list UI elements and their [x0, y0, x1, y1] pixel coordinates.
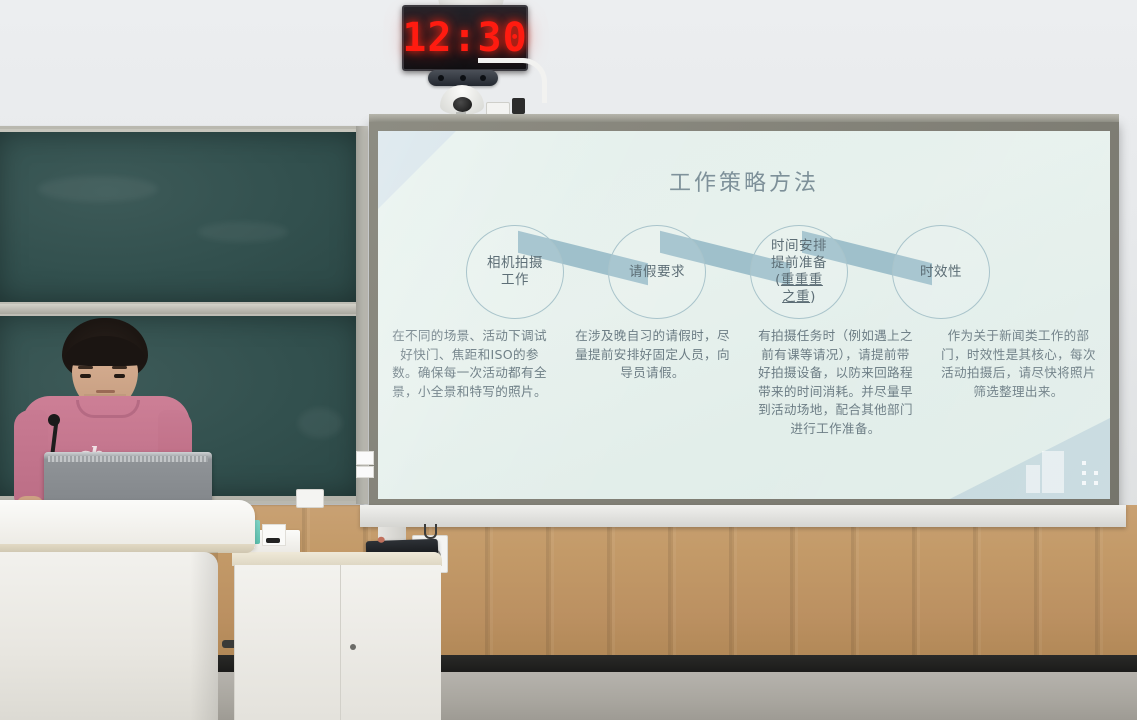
chalkboard-panel-upper	[0, 132, 360, 302]
window-dot	[1082, 471, 1086, 475]
process-node-3[interactable]: 时间安排提前准备(重重重之重)	[750, 225, 848, 319]
screen-bottom-shelf	[360, 505, 1126, 527]
slide-title: 工作策略方法	[378, 165, 1110, 197]
equipment-label	[356, 466, 374, 478]
arm-left	[14, 410, 48, 510]
cabinet-body	[234, 565, 441, 720]
marker-pen	[266, 538, 280, 543]
slide-corner-accent-bottomright	[930, 409, 1110, 499]
lectern-body	[0, 552, 218, 720]
classroom-scene: 12:30 工作策略方法 相机拍摄工作 请假要求	[0, 0, 1137, 720]
projection-screen-frame: 工作策略方法 相机拍摄工作 请假要求 时间安排提前准备(重重重之重) 时效性	[369, 122, 1119, 508]
cabinet-top	[232, 552, 442, 566]
lectern	[0, 500, 255, 720]
building-shape	[1042, 451, 1064, 493]
process-node-4[interactable]: 时效性	[892, 225, 990, 319]
chalk-smudge	[198, 222, 288, 242]
process-node-4-label: 时效性	[920, 264, 962, 281]
side-cabinet[interactable]	[232, 552, 442, 720]
cable-conduit	[478, 58, 547, 103]
window-dot	[1094, 471, 1098, 475]
process-node-1-label: 相机拍摄工作	[487, 255, 543, 289]
wall-socket	[296, 489, 324, 508]
slide-column-2-text: 在涉及晚自习的请假时，尽量提前安排好固定人员，向导员请假。	[575, 327, 730, 383]
shirt-collar	[76, 400, 140, 418]
slide-column-4-text: 作为关于新闻类工作的部门，时效性是其核心，每次活动拍摄后，请尽快将照片筛选整理出…	[941, 327, 1096, 401]
cable-hook	[424, 524, 437, 539]
slide-column-1-text: 在不同的场景、活动下调试好快门、焦距和ISO的参数。确保每一次活动都有全景，小全…	[392, 327, 547, 401]
eyebrow-right	[112, 366, 127, 369]
slide-column-2: 在涉及晚自习的请假时，尽量提前安排好固定人员，向导员请假。	[561, 327, 744, 439]
process-node-2-label: 请假要求	[629, 264, 685, 281]
process-diagram: 相机拍摄工作 请假要求 时间安排提前准备(重重重之重) 时效性	[378, 225, 1110, 321]
cabinet-knob[interactable]	[350, 644, 356, 650]
cabinet-door-seam	[340, 565, 341, 720]
equipment-label	[356, 451, 374, 465]
clock-time-display: 12:30	[402, 15, 527, 61]
slide-column-3-text: 有拍摄任务时（例如遇上之前有课等请况），请提前带好拍摄设备，以防来回路程带来的时…	[758, 327, 913, 439]
corner-triangle	[930, 413, 1110, 499]
chalk-rail	[0, 304, 362, 314]
podium-monitor[interactable]	[44, 452, 212, 504]
slide-column-3: 有拍摄任务时（例如遇上之前有课等请况），请提前带好拍摄设备，以防来回路程带来的时…	[744, 327, 927, 439]
window-dot	[1082, 461, 1086, 465]
process-node-2[interactable]: 请假要求	[608, 225, 706, 319]
chalkboard-side-rail	[356, 126, 368, 504]
eye-left	[80, 374, 91, 378]
keyboard-marker	[378, 537, 385, 543]
presentation-slide: 工作策略方法 相机拍摄工作 请假要求 时间安排提前准备(重重重之重) 时效性	[378, 131, 1110, 499]
window-dot	[1094, 481, 1098, 485]
process-node-3-label: 时间安排提前准备(重重重之重)	[771, 238, 827, 306]
lectern-shadow	[190, 552, 218, 720]
mouth	[96, 390, 115, 393]
eye-right	[114, 374, 125, 378]
building-shape	[1026, 465, 1040, 493]
microphone-head	[48, 414, 60, 426]
window-dot	[1082, 481, 1086, 485]
eyebrow-left	[78, 366, 93, 369]
lectern-top	[0, 500, 255, 548]
slide-column-1: 在不同的场景、活动下调试好快门、焦距和ISO的参数。确保每一次活动都有全景，小全…	[378, 327, 561, 439]
chalk-smudge	[298, 408, 342, 438]
process-node-1[interactable]: 相机拍摄工作	[466, 225, 564, 319]
chalk-smudge	[38, 176, 158, 202]
